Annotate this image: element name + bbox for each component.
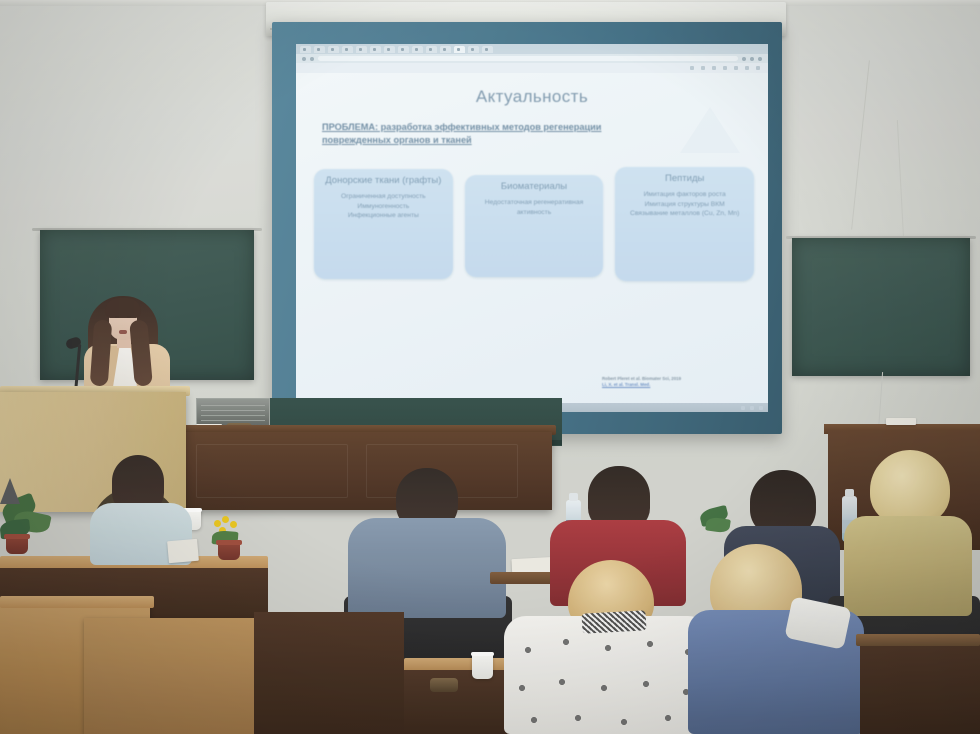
browser-tab[interactable] [412, 46, 423, 53]
projector-screen-frame: Актуальность ПРОБЛЕМА: разработка эффект… [272, 22, 782, 434]
paper-on-side-desk [886, 418, 916, 425]
favicon-icon [331, 48, 334, 51]
viewer-toolbar[interactable] [296, 63, 768, 73]
slide-box-biomaterials: Биоматериалы Недостаточная регенеративна… [465, 175, 604, 277]
slide-citations: Robert Pleret et al. Biomater Sci, 2019 … [602, 376, 752, 389]
favicon-icon [457, 48, 460, 51]
browser-tab[interactable] [356, 46, 367, 53]
network-icon[interactable] [741, 406, 745, 410]
taskbar-system-tray[interactable] [741, 406, 763, 410]
presenter [74, 290, 182, 400]
attendee-hair [870, 450, 950, 524]
browser-tab[interactable] [384, 46, 395, 53]
browser-tab[interactable] [300, 46, 311, 53]
box-bullet: Иммуногенность [321, 202, 446, 212]
favicon-icon [443, 48, 446, 51]
attendee-suit [348, 518, 506, 618]
favicon-icon [401, 48, 404, 51]
projected-display: Актуальность ПРОБЛЕМА: разработка эффект… [296, 44, 768, 412]
paper-cup [472, 652, 493, 679]
attendee-collar [582, 610, 647, 633]
flower-pot [6, 536, 28, 554]
flower-pot [218, 542, 240, 560]
handout-papers [167, 539, 199, 564]
slide-decoration-triangle [680, 107, 740, 153]
favicon-icon [303, 48, 306, 51]
attendee-blouse-print [504, 616, 710, 734]
desk-front-right-top [856, 634, 980, 646]
desk-front-right [860, 640, 980, 734]
eyeglass-case [430, 678, 458, 692]
box-bullet: Инфекционные агенты [321, 211, 446, 221]
presenter-eye-left [115, 316, 119, 318]
download-icon[interactable] [734, 66, 738, 70]
yellow-flower [230, 521, 237, 528]
box-bullet: Ограниченная доступность [321, 192, 446, 202]
box-bullet: Недостаточная регенеративная активность [472, 198, 597, 217]
clock-icon[interactable] [759, 406, 763, 410]
chalkboard-right [792, 238, 970, 376]
desk-name-card [0, 478, 20, 504]
back-arrow-icon[interactable] [302, 57, 306, 61]
close-icon[interactable] [758, 57, 762, 61]
browser-tab[interactable] [328, 46, 339, 53]
zoom-out-icon[interactable] [690, 66, 694, 70]
favicon-icon [345, 48, 348, 51]
volume-icon[interactable] [750, 406, 754, 410]
yellow-flower [214, 520, 221, 527]
slide-box-row: Донорские ткани (графты) Ограниченная до… [314, 169, 754, 281]
box-heading: Донорские ткани (графты) [321, 176, 446, 187]
presenter-mouth [119, 330, 127, 334]
yellow-flower [222, 516, 229, 523]
desk-front-left-3 [254, 612, 404, 734]
slide-title: Актуальность [296, 87, 768, 107]
browser-tabstrip[interactable] [296, 44, 768, 54]
browser-address-bar[interactable] [296, 54, 768, 63]
maximize-icon[interactable] [750, 57, 754, 61]
box-heading: Пептиды [622, 174, 747, 185]
favicon-icon [317, 48, 320, 51]
browser-tab[interactable] [398, 46, 409, 53]
fullscreen-icon[interactable] [745, 66, 749, 70]
presenter-eye-right [127, 316, 131, 318]
lecture-hall-photo: Актуальность ПРОБЛЕМА: разработка эффект… [0, 0, 980, 734]
attendee-mid-left [348, 468, 508, 618]
browser-tab[interactable] [468, 46, 479, 53]
favicon-icon [415, 48, 418, 51]
url-field[interactable] [318, 56, 738, 61]
browser-tab[interactable] [314, 46, 325, 53]
slide-box-donor-tissues: Донорские ткани (графты) Ограниченная до… [314, 169, 453, 279]
favicon-icon [429, 48, 432, 51]
citation-line: Robert Pleret et al. Biomater Sci, 2019 [602, 376, 752, 383]
slide-box-peptides: Пептиды Имитация факторов роста Имитация… [615, 167, 754, 281]
box-heading: Биоматериалы [472, 182, 597, 193]
browser-tab[interactable] [370, 46, 381, 53]
desk-front-left-top [0, 596, 154, 608]
print-icon[interactable] [723, 66, 727, 70]
presentation-slide: Актуальность ПРОБЛЕМА: разработка эффект… [296, 73, 768, 403]
browser-tab[interactable] [426, 46, 437, 53]
browser-tab[interactable] [482, 46, 493, 53]
box-bullet: Имитация факторов роста [622, 190, 747, 200]
favicon-icon [359, 48, 362, 51]
favicon-icon [485, 48, 488, 51]
browser-tab-active[interactable] [454, 46, 465, 53]
favicon-icon [471, 48, 474, 51]
more-options-icon[interactable] [756, 66, 760, 70]
attendee-front-right [688, 544, 864, 734]
favicon-icon [387, 48, 390, 51]
citation-line-link[interactable]: Li, X. et al. Transl. Med. [602, 382, 752, 389]
attendee-front-center [504, 560, 710, 734]
box-bullet: Имитация структуры ВКМ [622, 200, 747, 210]
favicon-icon [373, 48, 376, 51]
zoom-in-icon[interactable] [701, 66, 705, 70]
reload-icon[interactable] [310, 57, 314, 61]
slide-problem-statement: ПРОБЛЕМА: разработка эффективных методов… [322, 121, 622, 146]
browser-tab[interactable] [342, 46, 353, 53]
box-bullet: Связывание металлов (Cu, Zn, Mn) [622, 209, 747, 219]
browser-tab[interactable] [440, 46, 451, 53]
presenter-fringe [105, 298, 141, 318]
rotate-icon[interactable] [712, 66, 716, 70]
browser-chrome [296, 44, 768, 73]
desk-front-left-2 [84, 618, 254, 734]
minimize-icon[interactable] [742, 57, 746, 61]
